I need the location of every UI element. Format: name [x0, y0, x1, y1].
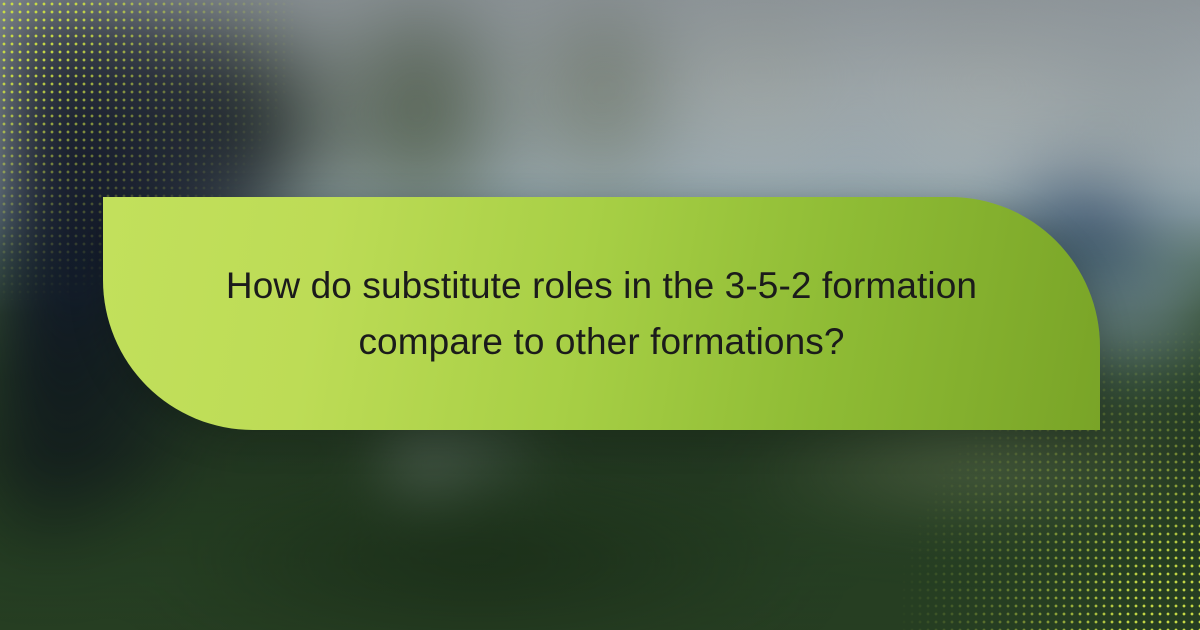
question-card-graphic: How do substitute roles in the 3-5-2 for… — [0, 0, 1200, 630]
question-card: How do substitute roles in the 3-5-2 for… — [103, 197, 1100, 430]
question-text: How do substitute roles in the 3-5-2 for… — [222, 258, 982, 370]
